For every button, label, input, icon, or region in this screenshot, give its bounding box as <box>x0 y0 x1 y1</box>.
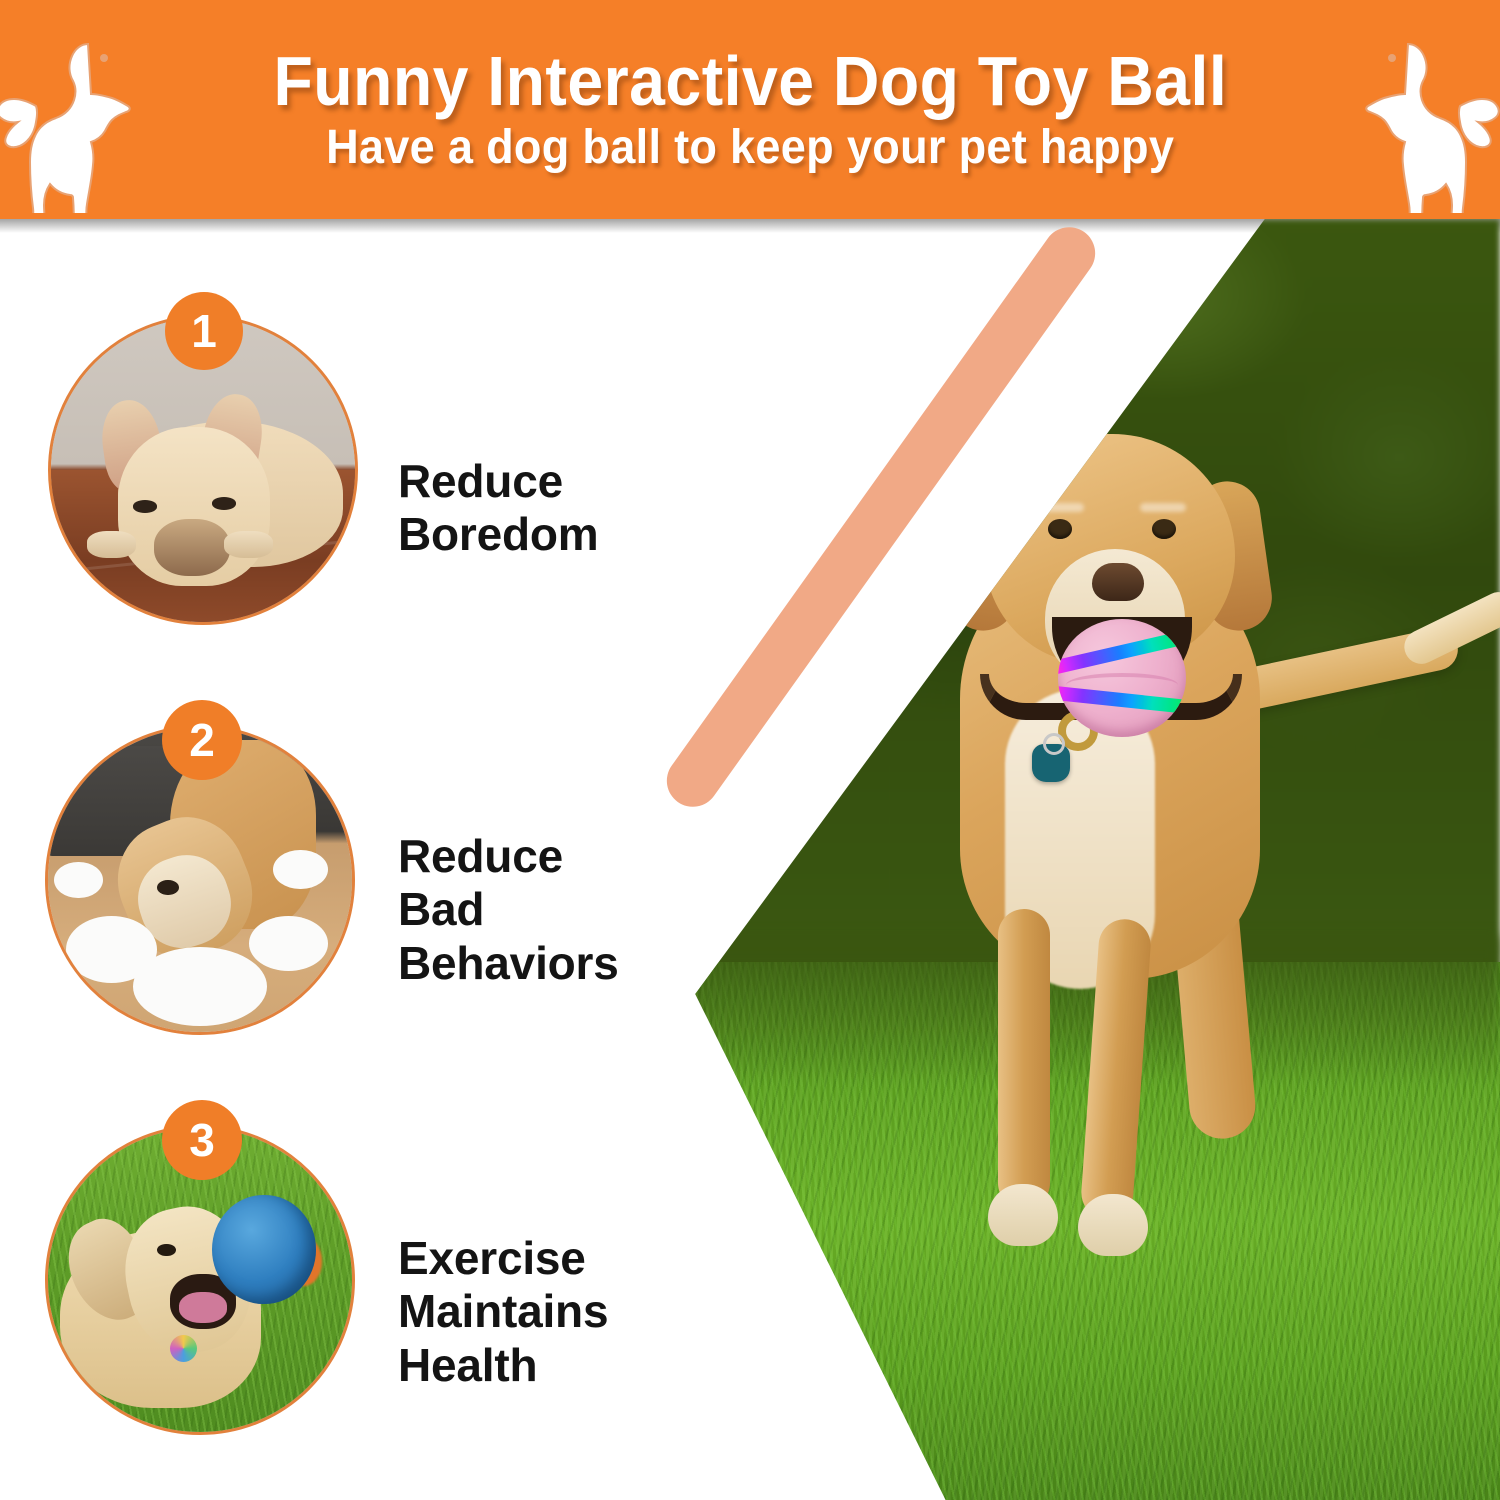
hero-scene <box>660 219 1500 1500</box>
ball-groove <box>1066 673 1178 697</box>
photo-3-dog-tongue <box>179 1292 228 1322</box>
photo-2-stuffing <box>273 850 328 890</box>
photo-1-dog-snout <box>154 519 230 577</box>
photo-2-dog-eye <box>157 880 178 895</box>
photo-2-stuffing <box>249 916 328 971</box>
photo-2-stuffing <box>133 947 267 1026</box>
hero-photo-clip <box>660 219 1500 1500</box>
dog-eye <box>1152 519 1176 539</box>
photo-1-dog-eye <box>212 497 236 509</box>
dog-eye <box>1048 519 1072 539</box>
dog-nose <box>1092 563 1144 601</box>
dog-brow <box>1140 503 1186 512</box>
feature-label-2: Reduce Bad Behaviors <box>398 830 619 990</box>
ball-led-band <box>1058 628 1186 676</box>
feature-badge-1: 1 <box>165 292 243 370</box>
feature-label-1: Reduce Boredom <box>398 455 599 562</box>
hero-photo <box>660 219 1500 1500</box>
product-toy-ball <box>1058 619 1186 737</box>
dog-silhouette-icon <box>1364 18 1500 213</box>
photo-2-stuffing <box>54 862 103 898</box>
photo-1-dog-paw <box>87 531 136 558</box>
photo-3-dog-eye <box>157 1244 175 1256</box>
feature-badge-3: 3 <box>162 1100 242 1180</box>
banner-text-block: Funny Interactive Dog Toy Ball Have a do… <box>0 0 1500 219</box>
dog-front-leg <box>998 909 1050 1209</box>
feature-badge-2: 2 <box>162 700 242 780</box>
photo-1-dog-paw <box>224 531 273 558</box>
feature-label-3: Exercise Maintains Health <box>398 1232 608 1392</box>
dog-brow <box>1038 503 1084 512</box>
page-title: Funny Interactive Dog Toy Ball <box>273 46 1227 117</box>
dog-paw <box>1078 1194 1148 1256</box>
page-subtitle: Have a dog ball to keep your pet happy <box>326 123 1174 173</box>
dog-paw <box>988 1184 1058 1246</box>
collar-tag <box>1032 744 1070 782</box>
header-banner: Funny Interactive Dog Toy Ball Have a do… <box>0 0 1500 219</box>
photo-1-dog-eye <box>133 500 157 512</box>
infographic-page: Funny Interactive Dog Toy Ball Have a do… <box>0 0 1500 1500</box>
photo-3-collar-tag <box>170 1335 197 1362</box>
photo-3-toy-ball <box>212 1195 315 1304</box>
